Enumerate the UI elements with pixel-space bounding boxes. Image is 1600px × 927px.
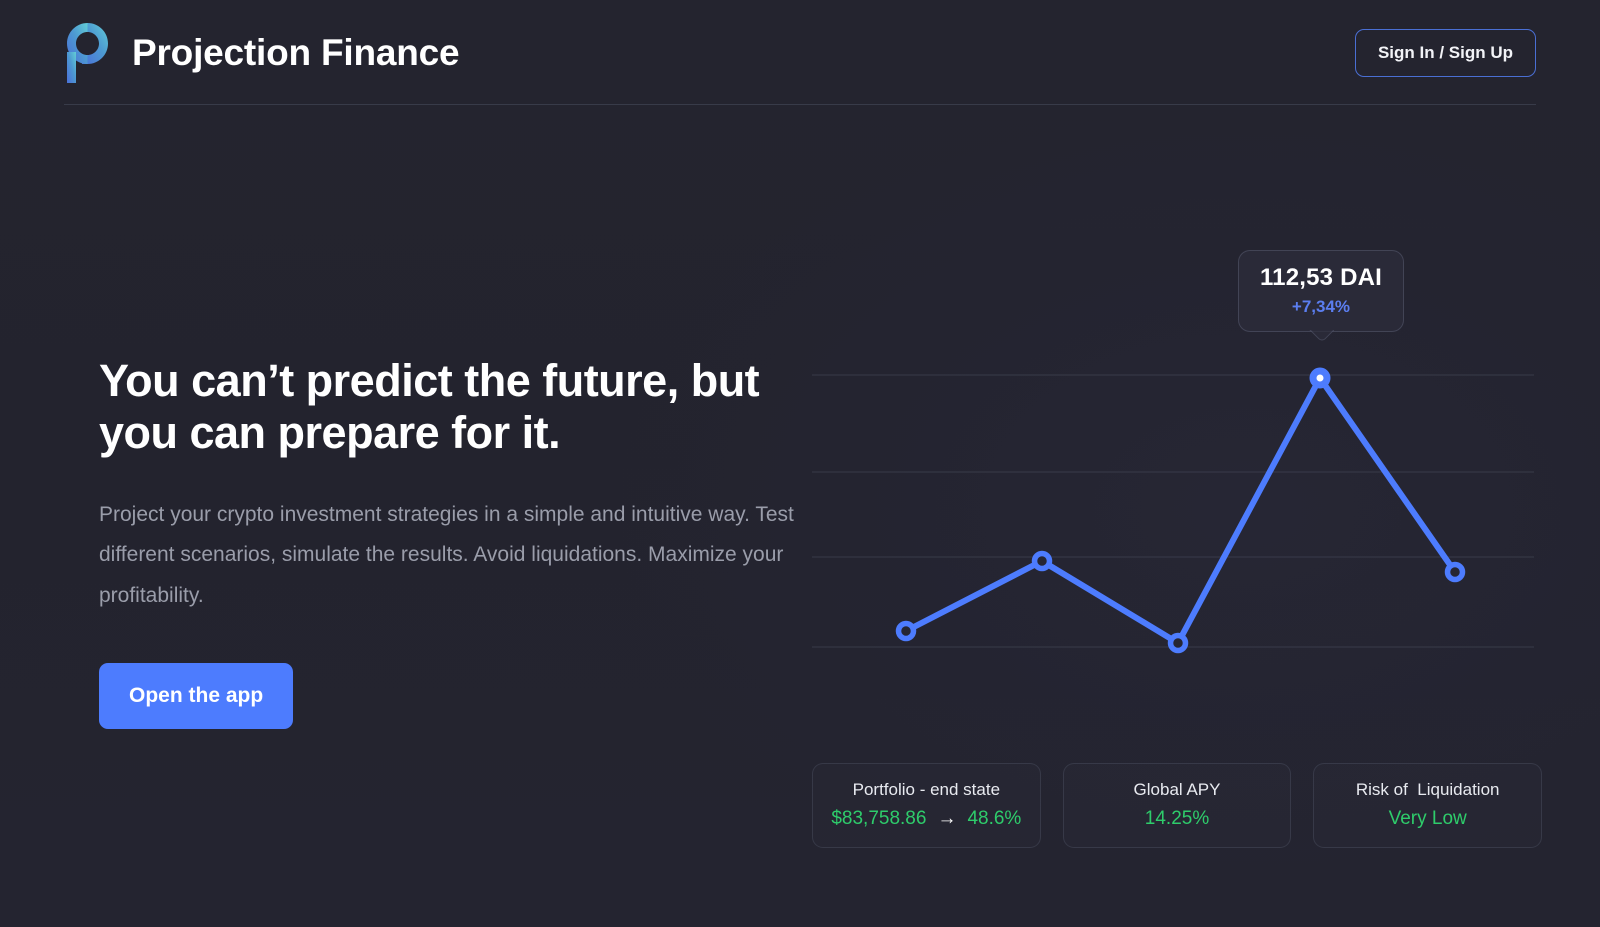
chart-tooltip: 112,53 DAI +7,34% [1238,250,1404,332]
headline-line-1: You can’t predict the future, but [99,355,759,406]
headline-line-2: you can prepare for it. [99,407,560,458]
stat-card-value: 14.25% [1072,808,1283,830]
tooltip-delta: +7,34% [1249,297,1393,317]
chart-data-points[interactable] [899,371,1463,651]
projection-p-logo-icon [64,22,110,84]
tooltip-tail-icon [1308,330,1334,344]
chart-data-point[interactable] [1171,636,1186,651]
site-header: Projection Finance Sign In / Sign Up [0,0,1600,105]
stat-card-portfolio[interactable]: Portfolio - end state $83,758.86 → 48.6% [812,763,1041,848]
tooltip-value: 112,53 DAI [1249,264,1393,292]
brand[interactable]: Projection Finance [64,22,459,84]
chart-data-point[interactable] [1035,554,1050,569]
stat-card-title: Risk of Liquidation [1322,780,1533,800]
stat-card-title: Portfolio - end state [821,780,1032,800]
stat-card-risk-of-liquidation[interactable]: Risk of Liquidation Very Low [1313,763,1542,848]
hero-section: You can’t predict the future, but you ca… [99,355,804,729]
chart-data-point[interactable] [899,624,914,639]
stat-value-primary: $83,758.86 [831,808,926,830]
page-title: You can’t predict the future, but you ca… [99,355,804,459]
stat-card-title: Global APY [1072,780,1283,800]
chart-line-series [906,378,1455,643]
chart-data-point[interactable] [1448,565,1463,580]
stat-value-secondary: 48.6% [967,808,1021,830]
hero-description: Project your crypto investment strategie… [99,495,799,617]
stat-value-primary: Very Low [1389,808,1467,830]
arrow-right-icon: → [937,808,956,830]
chart-panel: 112,53 DAI +7,34% [812,240,1542,840]
stat-cards: Portfolio - end state $83,758.86 → 48.6%… [812,763,1542,848]
brand-name: Projection Finance [132,32,459,74]
stat-value-primary: 14.25% [1145,808,1209,830]
chart-gridlines [812,375,1534,647]
sign-in-sign-up-button[interactable]: Sign In / Sign Up [1355,29,1536,77]
open-the-app-button[interactable]: Open the app [99,663,293,729]
portfolio-line-chart [812,350,1542,660]
stat-card-global-apy[interactable]: Global APY 14.25% [1063,763,1292,848]
stat-card-value: Very Low [1322,808,1533,830]
chart-data-point[interactable] [1313,371,1327,385]
stat-card-value: $83,758.86 → 48.6% [821,808,1032,830]
